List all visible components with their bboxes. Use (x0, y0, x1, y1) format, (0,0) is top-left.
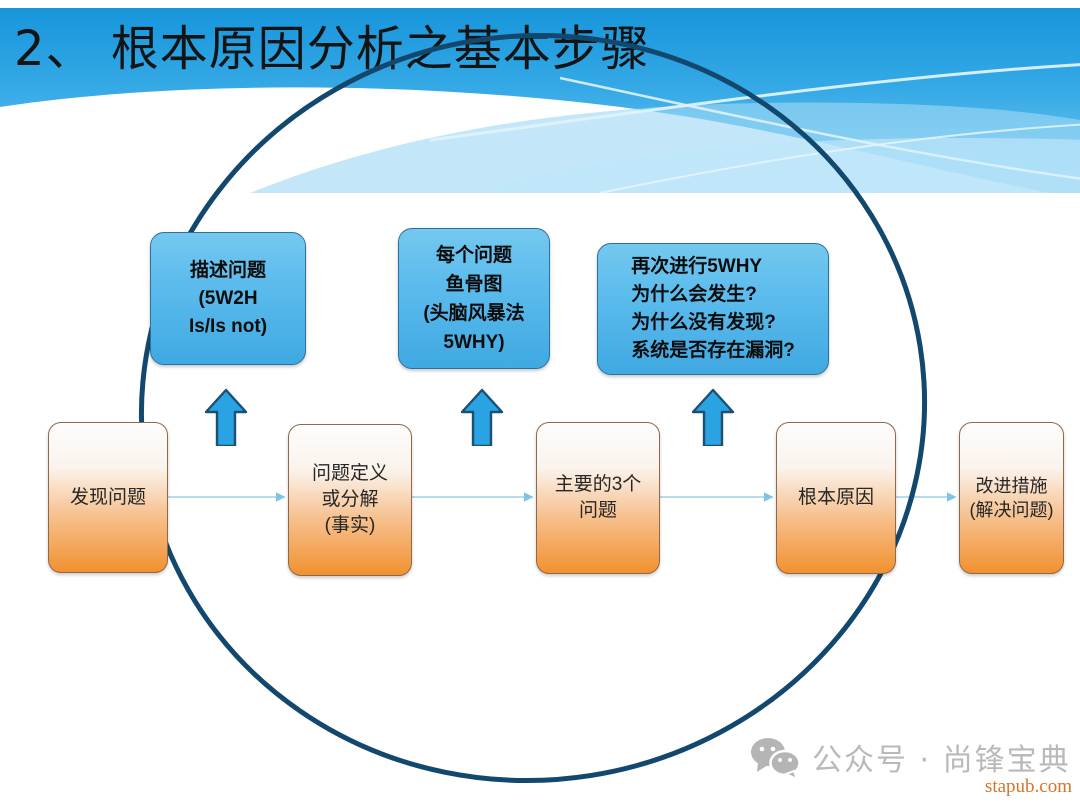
flow-box-root-cause[interactable]: 根本原因 (776, 422, 896, 574)
flow-box-text: 根本原因 (798, 485, 874, 511)
watermark: 公众号 · 尚锋宝典 (748, 735, 1071, 779)
flow-box-text: 改进措施 (解决问题) (970, 474, 1054, 522)
blue-box-describe-problem[interactable]: 描述问题 (5W2H Is/Is not) (150, 232, 306, 365)
watermark-domain: stapub.com (985, 776, 1072, 798)
flow-box-text: 发现问题 (70, 485, 146, 511)
wechat-icon (748, 735, 804, 779)
flow-box-find-problem[interactable]: 发现问题 (48, 422, 168, 573)
blue-box-text: 再次进行5WHY 为什么会发生? 为什么没有发现? 系统是否存在漏洞? (631, 253, 795, 365)
up-arrow-2 (459, 388, 505, 446)
flow-box-text: 问题定义 或分解 (事实) (312, 461, 388, 539)
flow-box-define-problem[interactable]: 问题定义 或分解 (事实) (288, 424, 412, 576)
page-title: 2、 根本原因分析之基本步骤 (14, 20, 714, 82)
flow-box-text: 主要的3个 问题 (555, 472, 642, 524)
up-arrow-1 (203, 388, 249, 446)
flow-box-improvement[interactable]: 改进措施 (解决问题) (959, 422, 1064, 574)
watermark-account-text: 公众号 · 尚锋宝典 (812, 735, 1071, 779)
blue-box-text: 每个问题 鱼骨图 (头脑风暴法 5WHY) (423, 241, 524, 357)
flow-box-main-three-issues[interactable]: 主要的3个 问题 (536, 422, 660, 574)
blue-box-fishbone-diagram[interactable]: 每个问题 鱼骨图 (头脑风暴法 5WHY) (398, 228, 550, 369)
up-arrow-3 (690, 388, 736, 446)
flow-connectors (0, 0, 1080, 803)
blue-box-text: 描述问题 (5W2H Is/Is not) (189, 257, 267, 341)
blue-box-repeat-5why[interactable]: 再次进行5WHY 为什么会发生? 为什么没有发现? 系统是否存在漏洞? (597, 243, 829, 375)
slide-canvas: 2、 根本原因分析之基本步骤 描述问题 (5W2H Is/Is not) 每个问… (0, 0, 1080, 803)
